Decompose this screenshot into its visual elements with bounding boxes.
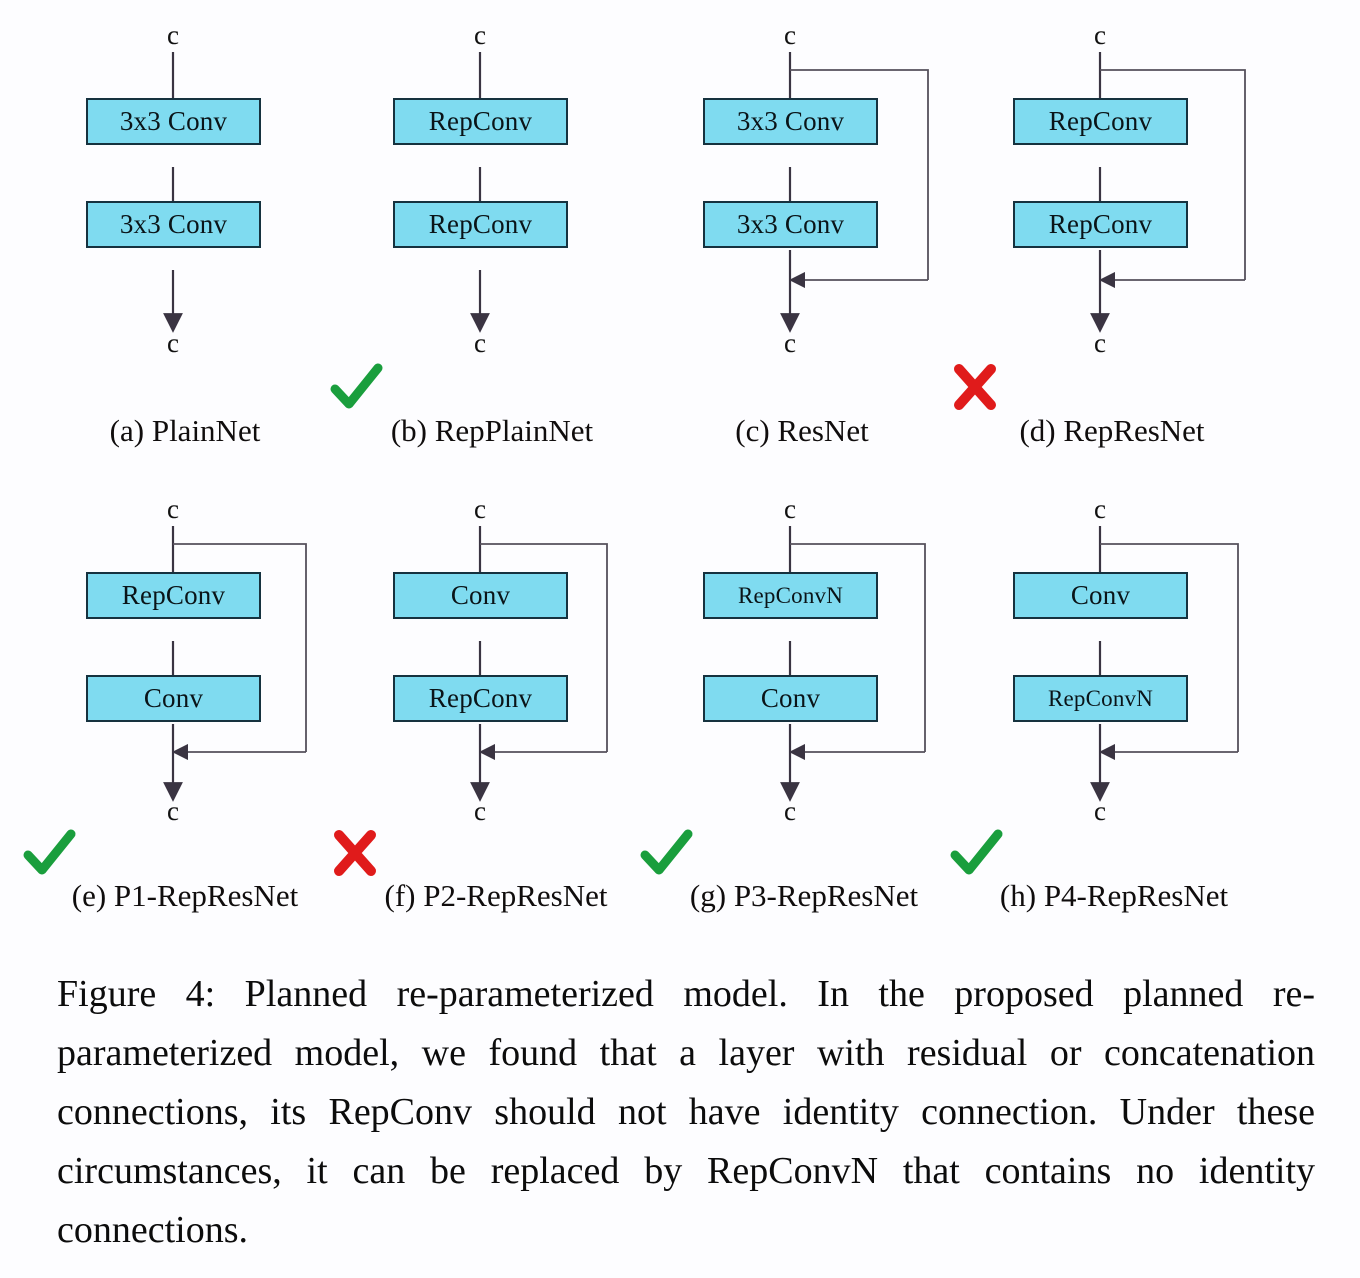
diagram-h: c Conv RepConvN c [995, 480, 1305, 880]
block-h-0: Conv [1013, 572, 1188, 619]
panel-d-represnet: c RepConv RepConv c (d) RepResNet [995, 0, 1305, 480]
check-icon-e [22, 828, 78, 878]
block-b-0: RepConv [393, 98, 568, 145]
output-channel-label-h: c [1080, 798, 1120, 825]
subcaption-b: (b) RepPlainNet [337, 415, 647, 446]
subcaption-a: (a) PlainNet [30, 415, 340, 446]
block-f-0: Conv [393, 572, 568, 619]
panel-h-p4-represnet: c Conv RepConvN c (h) P4-RepResNet [995, 480, 1305, 900]
block-g-1: Conv [703, 675, 878, 722]
cross-icon-d [947, 362, 1003, 412]
diagram-e: c RepConv Conv c [68, 480, 378, 880]
diagram-a: c 3x3 Conv 3x3 Conv c [68, 0, 378, 400]
diagram-b: c RepConv RepConv c [375, 0, 685, 400]
block-c-1: 3x3 Conv [703, 201, 878, 248]
check-icon-h [949, 828, 1005, 878]
check-icon-b [329, 362, 385, 412]
figure-4: c 3x3 Conv 3x3 Conv c (a) PlainNet [0, 0, 1360, 1278]
diagram-c: c 3x3 Conv 3x3 Conv c [685, 0, 995, 400]
subcaption-d: (d) RepResNet [957, 415, 1267, 446]
figure-caption: Figure 4: Planned re-parameterized model… [57, 965, 1315, 1260]
cross-icon-f [327, 828, 383, 878]
block-f-1: RepConv [393, 675, 568, 722]
subcaption-c: (c) ResNet [647, 415, 957, 446]
panel-b-repplainnet: c RepConv RepConv c (b) RepPlainNet [375, 0, 685, 480]
block-g-0: RepConvN [703, 572, 878, 619]
output-channel-label-f: c [460, 798, 500, 825]
block-d-1: RepConv [1013, 201, 1188, 248]
output-channel-label-a: c [153, 330, 193, 357]
diagram-d: c RepConv RepConv c [995, 0, 1305, 400]
block-c-0: 3x3 Conv [703, 98, 878, 145]
output-channel-label-d: c [1080, 330, 1120, 357]
output-channel-label-e: c [153, 798, 193, 825]
block-a-0: 3x3 Conv [86, 98, 261, 145]
diagram-g: c RepConvN Conv c [685, 480, 995, 880]
block-a-1: 3x3 Conv [86, 201, 261, 248]
output-channel-label-c: c [770, 330, 810, 357]
diagram-f: c Conv RepConv c [375, 480, 685, 880]
block-e-0: RepConv [86, 572, 261, 619]
subcaption-e: (e) P1-RepResNet [30, 880, 340, 911]
subcaption-g: (g) P3-RepResNet [649, 880, 959, 911]
output-channel-label-g: c [770, 798, 810, 825]
block-b-1: RepConv [393, 201, 568, 248]
block-e-1: Conv [86, 675, 261, 722]
subcaption-h: (h) P4-RepResNet [959, 880, 1269, 911]
subcaption-f: (f) P2-RepResNet [341, 880, 651, 911]
check-icon-g [639, 828, 695, 878]
block-h-1: RepConvN [1013, 675, 1188, 722]
output-channel-label-b: c [460, 330, 500, 357]
block-d-0: RepConv [1013, 98, 1188, 145]
